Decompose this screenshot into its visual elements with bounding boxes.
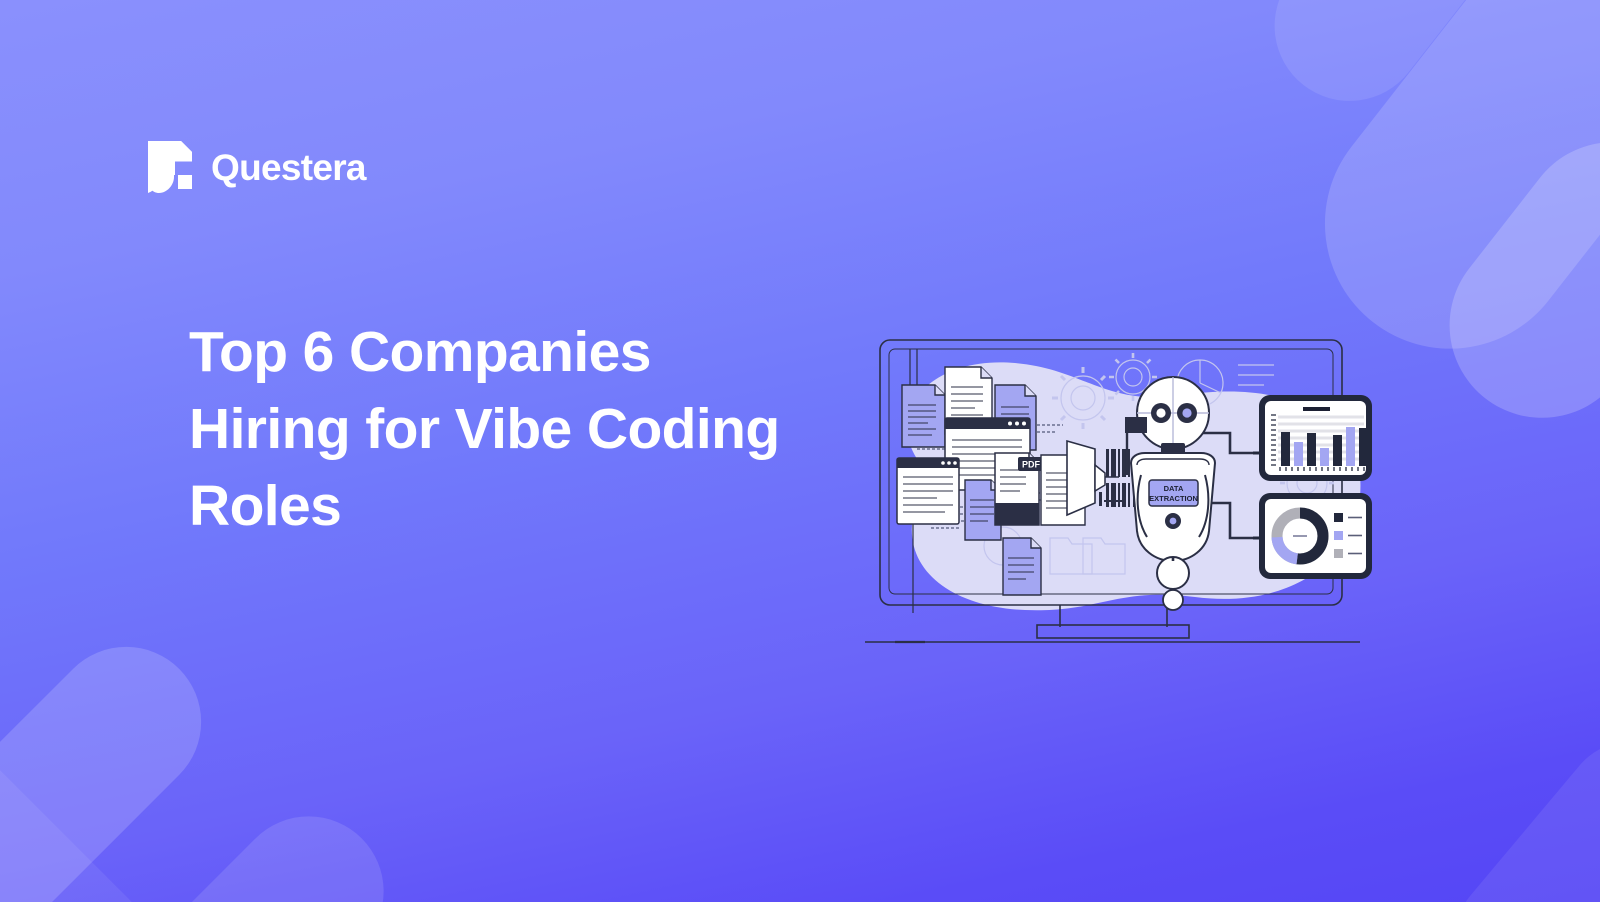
brand-logo[interactable]: Questera bbox=[148, 141, 366, 193]
document bbox=[902, 385, 945, 447]
browser-window bbox=[897, 458, 959, 524]
brand-wordmark: Questera bbox=[211, 149, 366, 186]
headline-line-3: Roles bbox=[189, 474, 341, 538]
document bbox=[1003, 538, 1041, 595]
questera-shield-icon bbox=[148, 141, 196, 193]
pdf-document: PDF bbox=[995, 453, 1044, 525]
page-title: Top 6 Companies Hiring for Vibe Coding R… bbox=[189, 314, 849, 545]
pdf-label: PDF bbox=[1022, 460, 1041, 470]
headline-line-1: Top 6 Companies bbox=[189, 320, 651, 384]
robot-badge-line-1: DATA bbox=[1164, 484, 1184, 493]
bar-chart-panel bbox=[1253, 395, 1372, 481]
data-extraction-robot-illustration: PDF bbox=[855, 325, 1375, 645]
headline-line-2: Hiring for Vibe Coding bbox=[189, 397, 780, 461]
donut-chart-panel bbox=[1253, 493, 1372, 579]
robot-badge-line-2: EXTRACTION bbox=[1149, 494, 1198, 503]
